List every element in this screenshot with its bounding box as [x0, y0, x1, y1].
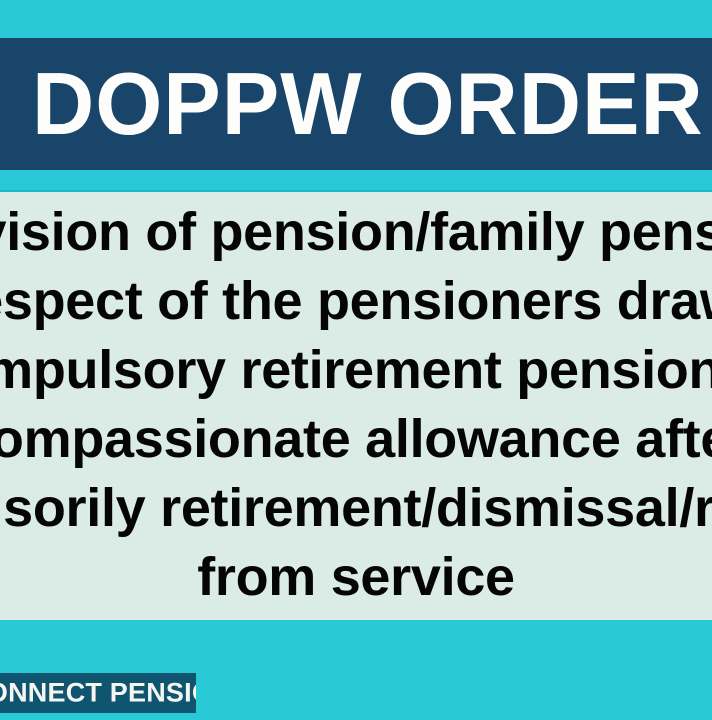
body-line: compassionate allowance after	[0, 405, 712, 474]
header-teal-divider	[0, 170, 712, 192]
body-panel: Revision of pension/family pension in re…	[0, 192, 712, 620]
body-line: in respect of the pensioners drawing	[0, 267, 712, 336]
poster-root: DOPPW ORDER Revision of pension/family p…	[0, 0, 712, 720]
header-band: DOPPW ORDER	[0, 38, 712, 170]
top-teal-strip	[0, 0, 712, 38]
page-title: DOPPW ORDER	[32, 60, 704, 148]
site-url-tab[interactable]: GCONNECT PENSIONER.COM	[0, 673, 196, 713]
body-text-block: Revision of pension/family pension in re…	[0, 192, 712, 612]
body-line: compulsory retirement pension or	[0, 336, 712, 405]
body-line: compulsorily retirement/dismissal/remova…	[0, 474, 712, 543]
body-line: Revision of pension/family pension	[0, 198, 712, 267]
site-url-label: GCONNECT PENSIONER.COM	[0, 680, 196, 707]
body-line: from service	[0, 543, 712, 612]
